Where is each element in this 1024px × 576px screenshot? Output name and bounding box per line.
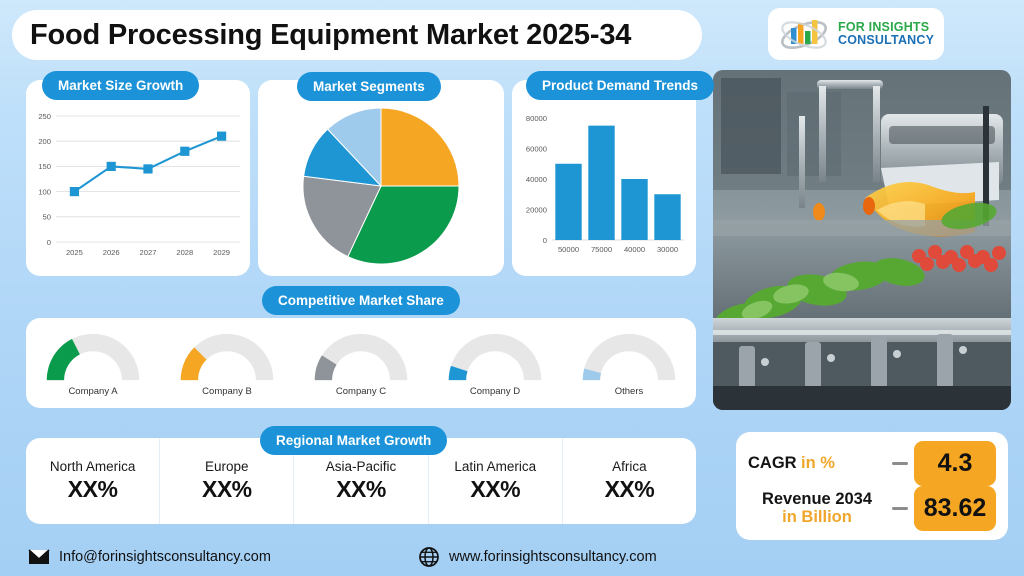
gauge-row: Company ACompany BCompany CCompany DOthe… — [26, 318, 696, 408]
kpi-revenue-row: Revenue 2034 in Billion 83.62 — [748, 486, 996, 531]
kpi-cagr-label-unit: in % — [801, 454, 835, 472]
kpi-revenue-label-unit: in Billion — [782, 508, 852, 526]
region-name: Europe — [205, 459, 249, 474]
kpi-cagr-label: CAGR in % — [748, 455, 886, 473]
badge-regional-market-growth: Regional Market Growth — [260, 426, 447, 455]
food-processing-conveyor-line-photo — [713, 70, 1011, 410]
svg-text:2026: 2026 — [103, 248, 120, 257]
kpi-cagr-dash — [892, 462, 908, 465]
svg-text:200: 200 — [38, 137, 51, 146]
card-market-segments — [258, 80, 504, 276]
kpi-revenue-label: Revenue 2034 in Billion — [748, 491, 886, 527]
kpi-revenue-value: 83.62 — [914, 486, 996, 531]
svg-text:30000: 30000 — [657, 245, 678, 254]
gauge-label: Company A — [68, 386, 117, 397]
title-plate: Food Processing Equipment Market 2025-34 — [12, 10, 702, 60]
footer-email[interactable]: Info@forinsightsconsultancy.com — [28, 546, 271, 568]
gauge-cell-4: Company D — [428, 318, 562, 408]
footer-email-text: Info@forinsightsconsultancy.com — [59, 549, 271, 565]
gauge-cell-2: Company B — [160, 318, 294, 408]
kpi-cagr-row: CAGR in % 4.3 — [748, 441, 996, 486]
brand-logo[interactable]: FOR INSIGHTS CONSULTANCY — [768, 8, 944, 60]
svg-text:80000: 80000 — [526, 114, 547, 123]
page-title: Food Processing Equipment Market 2025-34 — [30, 19, 631, 52]
region-cell-1: North AmericaXX% — [26, 438, 160, 524]
svg-text:20000: 20000 — [526, 205, 547, 214]
region-name: Asia-Pacific — [326, 459, 397, 474]
gauge-label: Company C — [336, 386, 386, 397]
gauge-cell-3: Company C — [294, 318, 428, 408]
badge-market-size-growth: Market Size Growth — [42, 71, 199, 100]
globe-icon — [418, 546, 440, 568]
card-competitive-market-share: Company ACompany BCompany CCompany DOthe… — [26, 318, 696, 408]
region-name: North America — [50, 459, 136, 474]
region-name: Latin America — [454, 459, 536, 474]
region-value: XX% — [605, 476, 655, 503]
page-header: Food Processing Equipment Market 2025-34… — [0, 0, 1024, 68]
kpi-cagr-value: 4.3 — [914, 441, 996, 486]
region-name: Africa — [612, 459, 647, 474]
gauge-label: Company D — [470, 386, 520, 397]
region-cell-5: AfricaXX% — [563, 438, 696, 524]
svg-text:2027: 2027 — [140, 248, 157, 257]
svg-text:40000: 40000 — [526, 175, 547, 184]
svg-text:250: 250 — [38, 112, 51, 121]
logo-wordmark: FOR INSIGHTS CONSULTANCY — [838, 21, 934, 47]
svg-text:0: 0 — [543, 236, 547, 245]
kpi-revenue-dash — [892, 507, 908, 510]
line-chart: 05010015020025020252026202720282029 — [26, 102, 250, 276]
half-donut-gauge-icon — [575, 330, 683, 384]
half-donut-gauge-icon — [307, 330, 415, 384]
envelope-icon — [28, 546, 50, 568]
svg-text:75000: 75000 — [591, 245, 612, 254]
badge-market-segments: Market Segments — [297, 72, 441, 101]
svg-text:50000: 50000 — [558, 245, 579, 254]
svg-text:2029: 2029 — [213, 248, 230, 257]
logo-line-2: CONSULTANCY — [838, 34, 934, 47]
region-value: XX% — [336, 476, 386, 503]
card-kpi-metrics: CAGR in % 4.3 Revenue 2034 in Billion 83… — [736, 432, 1008, 540]
gauge-cell-1: Company A — [26, 318, 160, 408]
half-donut-gauge-icon — [39, 330, 147, 384]
region-value: XX% — [470, 476, 520, 503]
badge-product-demand-trends: Product Demand Trends — [526, 71, 714, 100]
svg-text:0: 0 — [47, 238, 51, 247]
half-donut-gauge-icon — [173, 330, 281, 384]
footer-website-text: www.forinsightsconsultancy.com — [449, 549, 657, 565]
svg-text:40000: 40000 — [624, 245, 645, 254]
card-product-demand-trends: 0200004000060000800005000075000400003000… — [512, 80, 696, 276]
bar-chart: 0200004000060000800005000075000400003000… — [512, 102, 696, 276]
svg-text:2025: 2025 — [66, 248, 83, 257]
region-value: XX% — [202, 476, 252, 503]
page-footer: Info@forinsightsconsultancy.com www.fori… — [0, 540, 1024, 576]
gauge-label: Others — [615, 386, 644, 397]
svg-text:50: 50 — [43, 213, 51, 222]
footer-website[interactable]: www.forinsightsconsultancy.com — [418, 546, 657, 568]
bar-chart-swoosh-logo-icon — [778, 14, 830, 54]
pie-chart — [258, 102, 504, 276]
half-donut-gauge-icon — [441, 330, 549, 384]
region-cell-4: Latin AmericaXX% — [429, 438, 563, 524]
badge-competitive-market-share: Competitive Market Share — [262, 286, 460, 315]
kpi-revenue-label-main: Revenue 2034 — [762, 490, 872, 508]
kpi-cagr-label-main: CAGR — [748, 454, 797, 472]
card-market-size-growth: 05010015020025020252026202720282029 — [26, 80, 250, 276]
region-value: XX% — [68, 476, 118, 503]
svg-text:60000: 60000 — [526, 144, 547, 153]
gauge-label: Company B — [202, 386, 252, 397]
svg-text:2028: 2028 — [176, 248, 193, 257]
svg-text:100: 100 — [38, 187, 51, 196]
gauge-cell-5: Others — [562, 318, 696, 408]
svg-text:150: 150 — [38, 162, 51, 171]
